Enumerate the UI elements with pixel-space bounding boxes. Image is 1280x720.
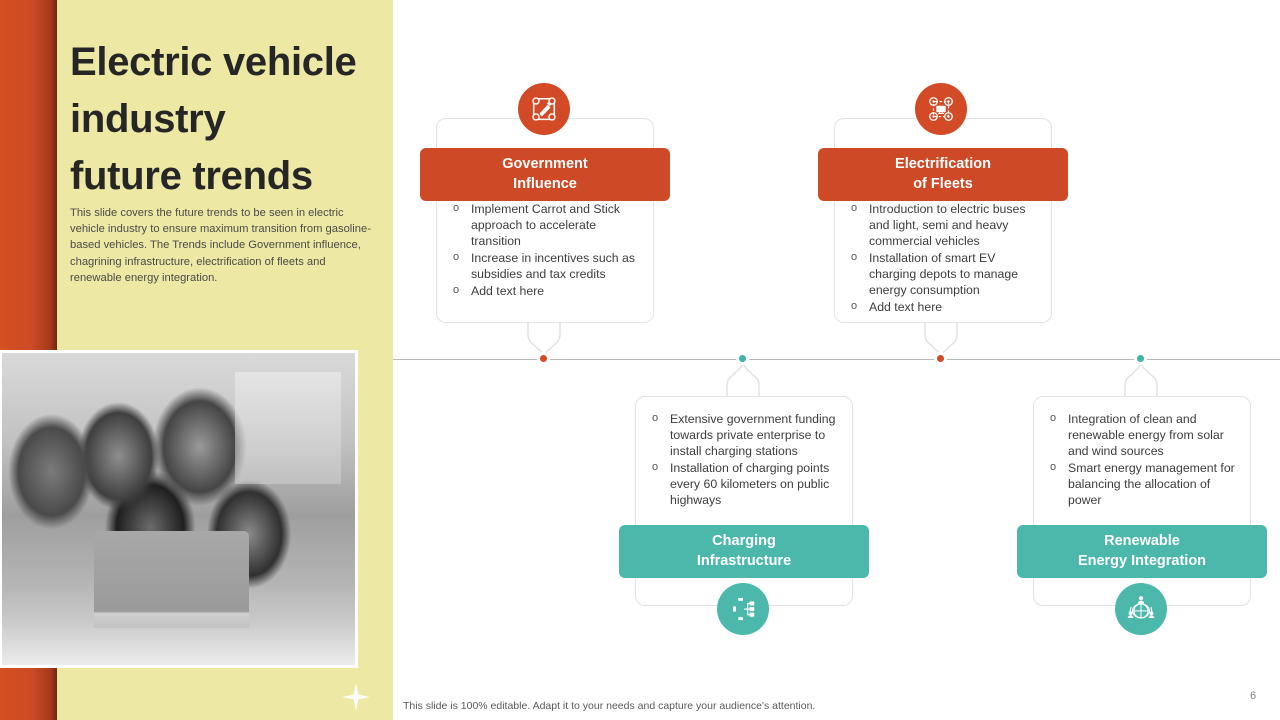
card-title-line-2: Energy Integration [1017, 551, 1267, 571]
card-header-government-influence: Government Influence [420, 148, 670, 201]
team-photo [2, 353, 355, 665]
card-title-line-2: Infrastructure [619, 551, 869, 571]
list-item: Integration of clean and renewable energ… [1046, 411, 1242, 459]
card-title-line-1: Electrification [818, 154, 1068, 174]
list-item: Extensive government funding towards pri… [648, 411, 844, 459]
card-title-line-1: Government [420, 154, 670, 174]
card-title-line-1: Charging [619, 531, 869, 551]
title-line-1: Electric vehicle [70, 34, 390, 91]
photo-window-region [235, 372, 341, 484]
card-charging-infrastructure[interactable]: Extensive government funding towards pri… [635, 396, 853, 606]
timeline-node-electrification-of-fleets[interactable] [934, 352, 947, 365]
list-item: Installation of smart EV charging depots… [847, 250, 1043, 298]
sparkle-icon [341, 682, 371, 712]
timeline-diagram: Government Influence Implement Carrot an… [393, 0, 1280, 720]
bullet-list-charging-infrastructure: Extensive government funding towards pri… [648, 411, 844, 509]
list-item: Add text here [449, 283, 645, 299]
list-item: Implement Carrot and Stick approach to a… [449, 201, 645, 249]
bullet-list-government-influence: Implement Carrot and Stick approach to a… [449, 201, 645, 300]
card-header-renewable-energy-integration: Renewable Energy Integration [1017, 525, 1267, 578]
gear-network-icon [717, 583, 769, 635]
bullet-list-renewable-energy-integration: Integration of clean and renewable energ… [1046, 411, 1242, 509]
list-item: Smart energy management for balancing th… [1046, 460, 1242, 508]
card-header-electrification-of-fleets: Electrification of Fleets [818, 148, 1068, 201]
slide-canvas: Electric vehicle industry future trends … [0, 0, 1280, 720]
fleet-management-icon [915, 83, 967, 135]
list-item: Installation of charging points every 60… [648, 460, 844, 508]
card-renewable-energy-integration[interactable]: Integration of clean and renewable energ… [1033, 396, 1251, 606]
team-photo-frame [0, 350, 358, 668]
page-number: 6 [1250, 690, 1256, 702]
card-electrification-of-fleets[interactable]: Electrification of Fleets Introduction t… [834, 118, 1052, 323]
global-people-network-icon [1115, 583, 1167, 635]
photo-laptop-region [94, 531, 249, 634]
list-item: Increase in incentives such as subsidies… [449, 250, 645, 282]
footer-note: This slide is 100% editable. Adapt it to… [403, 700, 815, 712]
card-header-charging-infrastructure: Charging Infrastructure [619, 525, 869, 578]
list-item: Introduction to electric buses and light… [847, 201, 1043, 249]
title-line-3: future trends [70, 148, 390, 205]
bullet-list-electrification-of-fleets: Introduction to electric buses and light… [847, 201, 1043, 316]
card-title-line-2: of Fleets [818, 174, 1068, 194]
card-title-line-1: Renewable [1017, 531, 1267, 551]
card-title-line-2: Influence [420, 174, 670, 194]
timeline-node-government-influence[interactable] [537, 352, 550, 365]
timeline-node-charging-infrastructure[interactable] [736, 352, 749, 365]
list-item: Add text here [847, 299, 1043, 315]
page-title: Electric vehicle industry future trends [70, 34, 390, 205]
slide-description: This slide covers the future trends to b… [70, 205, 376, 286]
title-line-2: industry [70, 91, 390, 148]
photo-desk-region [2, 628, 355, 665]
timeline-node-renewable-energy-integration[interactable] [1134, 352, 1147, 365]
card-government-influence[interactable]: Government Influence Implement Carrot an… [436, 118, 654, 323]
government-policy-icon [518, 83, 570, 135]
